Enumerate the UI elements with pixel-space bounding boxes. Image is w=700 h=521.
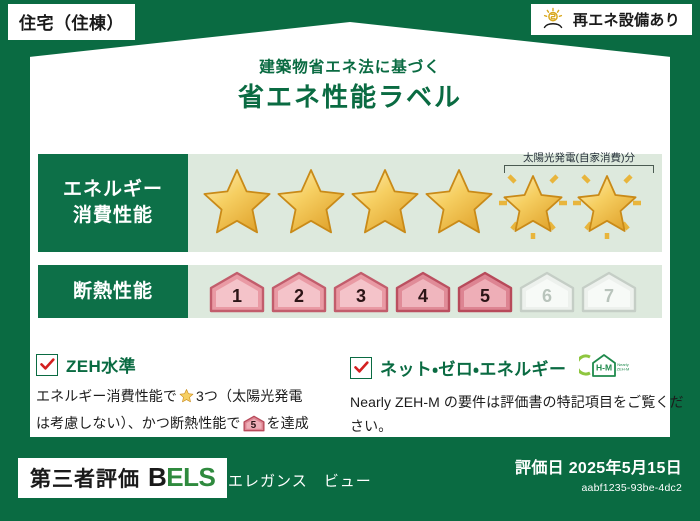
insulation-chips-panel: 1 2 3 4 5 [188, 265, 662, 318]
energy-label-line2: 消費性能 [73, 203, 153, 229]
star-rating [188, 154, 662, 252]
insulation-grade-chip: 4 [394, 270, 452, 314]
third-party-eval-label: 第三者評価 [30, 463, 140, 493]
evaluation-date: 評価日 2025年5月15日 [515, 459, 682, 479]
insulation-grade-chip: 2 [270, 270, 328, 314]
insulation-grade-value: 7 [604, 281, 614, 314]
title-block: 建築物省エネ法に基づく 省エネ性能ラベル [0, 58, 700, 114]
insulation-grade-chip: 1 [208, 270, 266, 314]
bels-logo-b: B [148, 462, 166, 492]
insulation-grade-value: 2 [294, 281, 304, 314]
zeh-body-part3: は考慮しない）、かつ断熱性能で [36, 415, 241, 431]
evaluation-date-value: 2025年5月15日 [569, 460, 682, 477]
insulation-grade-chip: 5 [456, 270, 514, 314]
evaluation-date-label: 評価日 [515, 460, 564, 477]
zeh-body-part4: を達成 [267, 415, 309, 431]
zeh-standard-title: ZEH水準 [66, 352, 136, 377]
insulation-performance-row: 断熱性能 1 2 3 4 [38, 265, 662, 318]
zeh-standard-body: エネルギー消費性能で3つ（太陽光発電は考慮しない）、かつ断熱性能で5を達成 [36, 384, 340, 435]
evaluation-info: 評価日 2025年5月15日 aabf1235-93be-4dc2 [515, 459, 682, 495]
star-icon-solar [496, 163, 570, 243]
insulation-label-block: 断熱性能 [38, 265, 188, 318]
check-icon [36, 354, 58, 376]
check-icon [350, 357, 372, 379]
renewable-badge-label: 再エネ設備あり [573, 9, 680, 30]
star-icon [178, 391, 195, 407]
insulation-grade-chip: 3 [332, 270, 390, 314]
footer: 第三者評価 BELS エレガンス ビュー 評価日 2025年5月15日 aabf… [0, 445, 700, 521]
zeh-body-part1: エネルギー消費性能で [36, 388, 177, 404]
svg-text:H-M: H-M [596, 363, 612, 373]
zeh-standard-block: ZEH水準 エネルギー消費性能で3つ（太陽光発電は考慮しない）、かつ断熱性能で5… [0, 352, 340, 438]
insulation-grade-inline-value: 5 [243, 415, 265, 432]
energy-performance-row: エネルギー 消費性能 太陽光発電(自家消費)分 [38, 154, 662, 252]
zeh-standard-heading: ZEH水準 [36, 352, 340, 377]
property-name: エレガンス ビュー [228, 470, 372, 491]
insulation-grade-chip: 7 [580, 270, 638, 314]
insulation-grade-value: 5 [480, 281, 490, 314]
page-title: 省エネ性能ラベル [0, 80, 700, 114]
svg-text:ZEH-M: ZEH-M [617, 367, 630, 372]
star-icon [348, 163, 422, 243]
renewable-energy-badge: 再エネ設備あり [531, 4, 692, 35]
insulation-grade-value: 3 [356, 281, 366, 314]
house-type-tag-label: 住宅（住棟） [19, 14, 124, 33]
star-icon [422, 163, 496, 243]
bels-logo-els: ELS [166, 462, 215, 492]
sun-icon [540, 7, 566, 31]
bels-logo: BELS [148, 462, 215, 493]
star-icon [274, 163, 348, 243]
zeh-m-house-icon: H-M Nearly ZEH-M [579, 352, 631, 383]
net-zero-title: ネット・ゼロ・エネルギー [380, 355, 566, 380]
insulation-grade-scale: 1 2 3 4 5 [188, 265, 662, 318]
zeh-body-part2: 3つ（太陽光発電 [196, 388, 303, 404]
insulation-grade-value: 4 [418, 281, 428, 314]
label-subtitle: 建築物省エネ法に基づく [0, 58, 700, 78]
info-columns: ZEH水準 エネルギー消費性能で3つ（太陽光発電は考慮しない）、かつ断熱性能で5… [0, 352, 700, 438]
net-zero-block: ネット・ゼロ・エネルギー H-M Nearly ZEH-M Nearly ZEH… [340, 352, 690, 438]
net-zero-heading: ネット・ゼロ・エネルギー H-M Nearly ZEH-M [350, 352, 690, 383]
insulation-label: 断熱性能 [73, 280, 153, 304]
insulation-grade-chip-inline: 5 [243, 415, 265, 432]
energy-performance-label: 住宅（住棟） 再エネ設備あり 建築物省エネ法に基づく 省エネ性能ラベル [0, 0, 700, 521]
insulation-grade-value: 1 [232, 281, 242, 314]
star-icon-solar [570, 163, 644, 243]
energy-performance-label-block: エネルギー 消費性能 [38, 154, 188, 252]
house-type-tag: 住宅（住棟） [8, 4, 135, 40]
bels-plate: 第三者評価 BELS [18, 458, 227, 498]
net-zero-body: Nearly ZEH-M の要件は評価書の特記項目をご覧ください。 [350, 390, 690, 438]
insulation-grade-chip: 6 [518, 270, 576, 314]
star-icon [200, 163, 274, 243]
insulation-grade-value: 6 [542, 281, 552, 314]
energy-stars-panel: 太陽光発電(自家消費)分 [188, 154, 662, 252]
energy-label-line1: エネルギー [63, 177, 163, 203]
evaluation-id: aabf1235-93be-4dc2 [515, 481, 682, 495]
